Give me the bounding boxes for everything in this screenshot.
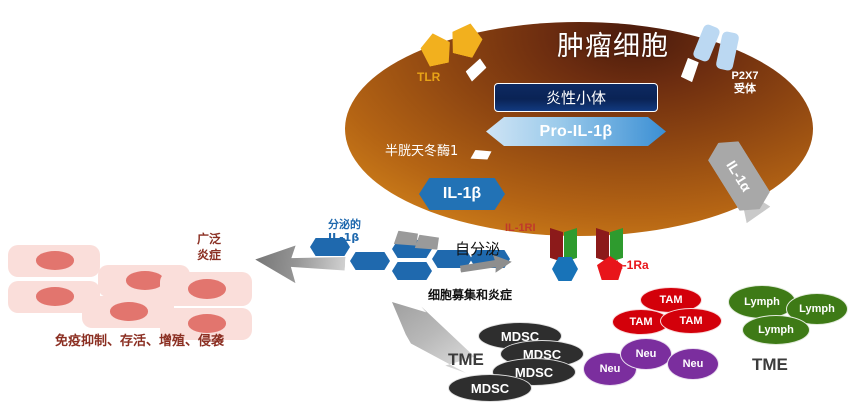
p2x7-label-line2: 受体	[734, 83, 756, 95]
receptor-subunit-dark-icon	[596, 228, 609, 262]
p2x7-label-line1: P2X7	[732, 70, 759, 82]
recruitment-label: 细胞募集和炎症	[428, 286, 512, 303]
pro-il1b-arrow: Pro-IL-1β	[486, 117, 666, 146]
tme-cell-neu: Neu	[667, 348, 719, 380]
outcome-label: 免疫抑制、存活、增殖、侵袭	[55, 330, 224, 349]
broad-inflammation-line1: 广泛	[197, 232, 221, 246]
caspase-label: 半胱天冬酶1	[385, 140, 458, 159]
inflammasome-box: 炎性小体	[494, 83, 658, 112]
receptor-subunit-green-icon	[564, 228, 577, 262]
tme-cell-mdsc: MDSC	[448, 374, 532, 402]
broad-inflammation-label: 广泛 炎症	[182, 231, 236, 263]
epithelial-cell-nucleus	[126, 271, 165, 290]
tumor-cell-label: 肿瘤细胞	[523, 24, 703, 63]
receptor-subunit-dark-icon	[550, 228, 563, 262]
tme-cell-tam: TAM	[660, 308, 722, 334]
il1b-hexagon: IL-1β	[419, 178, 505, 210]
epithelial-cell-nucleus	[36, 251, 75, 270]
secreted-label-line1: 分泌的	[328, 218, 361, 231]
il1ra-label: IL-1Ra	[612, 258, 649, 272]
tme-label-right: TME	[752, 355, 788, 375]
tlr-label: TLR	[417, 70, 440, 84]
receptor-subunit-green-icon	[610, 228, 623, 262]
secreted-il1b-hexagon-icon	[350, 252, 390, 270]
epithelial-cell	[8, 245, 100, 277]
tme-cell-neu: Neu	[620, 338, 672, 370]
autocrine-label: 自分泌	[455, 238, 500, 259]
broad-inflammation-line2: 炎症	[197, 248, 221, 262]
tme-cell-lymph: Lymph	[728, 285, 796, 319]
il1a-group: IL-1α	[700, 140, 778, 216]
il1ri-label: IL-1RI	[505, 222, 536, 234]
epithelial-cell-nucleus	[110, 302, 149, 321]
diagram-canvas: 广泛 炎症 免疫抑制、存活、增殖、侵袭 肿瘤细胞 TLR P2X7 受体 炎性小…	[0, 0, 860, 404]
p2x7-label: P2X7 受体	[715, 70, 775, 96]
epithelial-cell	[160, 272, 252, 306]
tme-cell-lymph: Lymph	[742, 315, 810, 345]
epithelial-cell-nucleus	[188, 279, 227, 299]
secreted-label-line2: IL-1β	[328, 231, 359, 244]
secreted-il1b-hexagon-icon	[392, 262, 432, 280]
secreted-il1b-label: 分泌的 IL-1β	[328, 218, 390, 244]
tme-label-left: TME	[448, 350, 484, 370]
epithelial-cell-nucleus	[36, 287, 75, 306]
